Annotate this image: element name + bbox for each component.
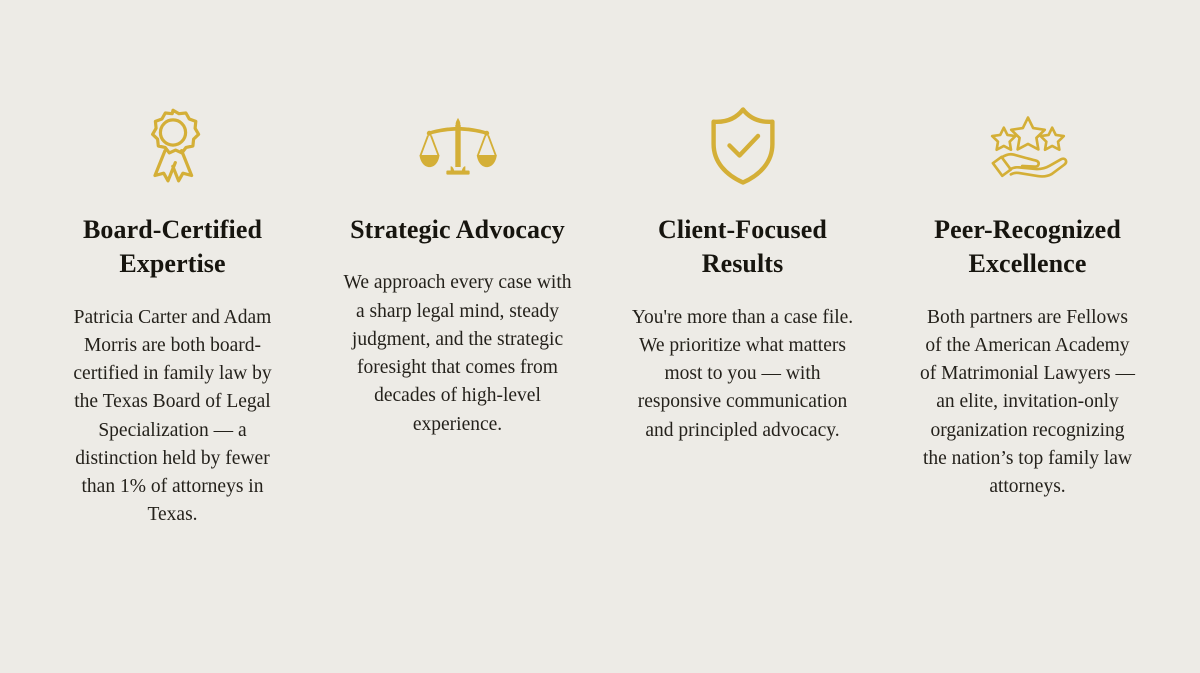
shield-check-icon xyxy=(704,105,782,187)
balance-scales-icon xyxy=(419,105,497,187)
feature-column-strategic-advocacy: Strategic Advocacy We approach every cas… xyxy=(315,105,600,439)
feature-column-peer-recognized: Peer-Recognized Excellence Both partners… xyxy=(885,105,1170,501)
feature-body: Patricia Carter and Adam Morris are both… xyxy=(65,304,281,530)
feature-body: Both partners are Fellows of the America… xyxy=(920,304,1136,502)
hand-holding-stars-icon xyxy=(989,105,1067,187)
features-section: Board-Certified Expertise Patricia Carte… xyxy=(0,0,1200,673)
feature-title: Board-Certified Expertise xyxy=(58,213,288,282)
feature-title: Peer-Recognized Excellence xyxy=(913,213,1143,282)
feature-column-board-certified: Board-Certified Expertise Patricia Carte… xyxy=(30,105,315,530)
feature-title: Strategic Advocacy xyxy=(350,213,565,247)
feature-title: Client-Focused Results xyxy=(628,213,858,282)
feature-column-client-focused: Client-Focused Results You're more than … xyxy=(600,105,885,445)
feature-body: You're more than a case file. We priorit… xyxy=(631,304,855,445)
feature-body: We approach every case with a sharp lega… xyxy=(344,269,572,439)
award-ribbon-icon xyxy=(134,105,212,187)
